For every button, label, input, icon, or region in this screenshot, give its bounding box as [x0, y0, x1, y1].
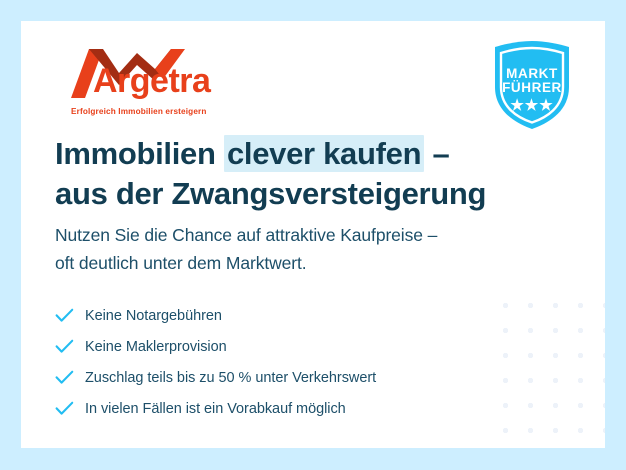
check-icon [55, 401, 85, 416]
headline-highlight: clever kaufen [224, 135, 424, 172]
headline-part-2: – [424, 136, 449, 171]
list-item: Keine Notargebühren [55, 301, 495, 330]
argetra-logo[interactable]: Argetra Erfolgreich Immobilien ersteiger… [59, 43, 259, 133]
headline-line-1: Immobilien clever kaufen – [55, 134, 486, 174]
page-title: Immobilien clever kaufen – aus der Zwang… [55, 134, 486, 213]
check-icon [55, 339, 85, 354]
subheadline: Nutzen Sie die Chance auf attraktive Kau… [55, 221, 437, 278]
badge-stars: ★★★ [489, 96, 575, 114]
list-item: Keine Maklerprovision [55, 332, 495, 361]
badge-line-2: FÜHRER [489, 80, 575, 95]
subheadline-line-1: Nutzen Sie die Chance auf attraktive Kau… [55, 221, 437, 249]
subheadline-line-2: oft deutlich unter dem Marktwert. [55, 249, 437, 277]
list-item-label: In vielen Fällen ist ein Vorabkauf mögli… [85, 401, 346, 417]
list-item-label: Zuschlag teils bis zu 50 % unter Verkehr… [85, 370, 376, 386]
banner-card: Argetra Erfolgreich Immobilien ersteiger… [21, 21, 605, 448]
dot-grid-pattern [489, 289, 605, 439]
market-leader-badge: MARKT FÜHRER ★★★ [489, 39, 575, 131]
check-icon [55, 308, 85, 323]
list-item: In vielen Fällen ist ein Vorabkauf mögli… [55, 394, 495, 423]
headline-part-1: Immobilien [55, 136, 224, 171]
badge-line-1: MARKT [489, 66, 575, 81]
logo-wordmark: Argetra [93, 62, 210, 101]
list-item: Zuschlag teils bis zu 50 % unter Verkehr… [55, 363, 495, 392]
logo-tagline: Erfolgreich Immobilien ersteigern [71, 107, 207, 116]
list-item-label: Keine Maklerprovision [85, 339, 227, 355]
benefits-list: Keine Notargebühren Keine Maklerprovisio… [55, 301, 495, 425]
promo-banner: Argetra Erfolgreich Immobilien ersteiger… [0, 0, 626, 470]
check-icon [55, 370, 85, 385]
list-item-label: Keine Notargebühren [85, 308, 222, 324]
headline-line-2: aus der Zwangsversteigerung [55, 174, 486, 214]
